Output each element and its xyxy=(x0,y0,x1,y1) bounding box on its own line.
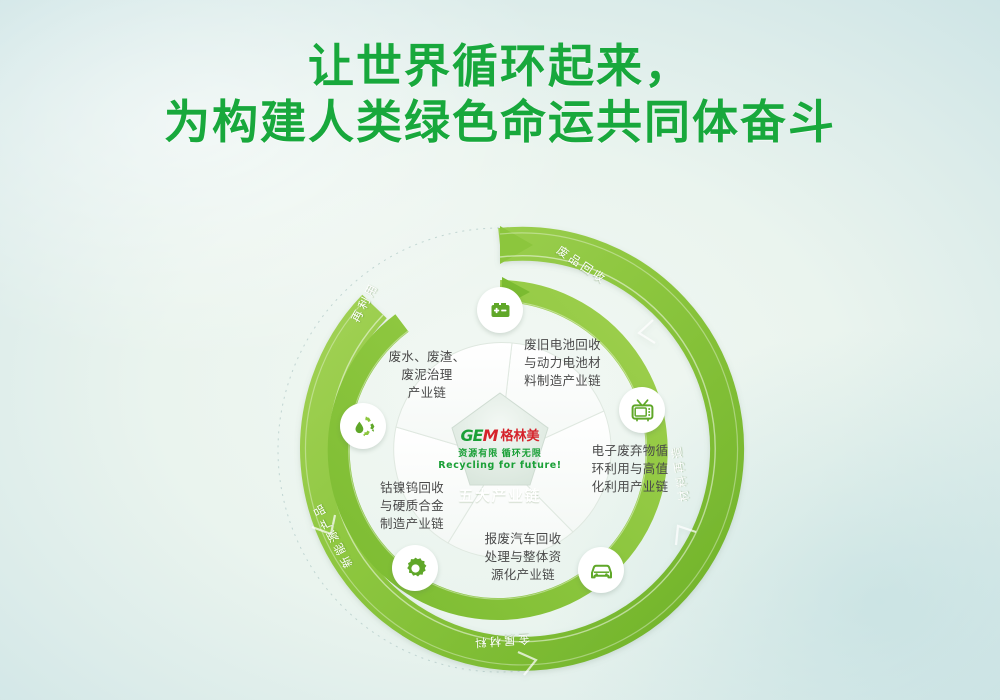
center-caption: 五大产业链 xyxy=(430,485,570,506)
chain-label-e-waste: 电子废弃物循 环利用与高值 化利用产业链 xyxy=(575,443,685,496)
chain-label-battery: 废旧电池回收 与动力电池材 料制造产业链 xyxy=(505,337,620,390)
brand-lockup: GEM 格林美 xyxy=(430,427,570,444)
car-icon-bubble[interactable] xyxy=(578,547,624,593)
recycling-cycle-diagram: 废品回收 再利用 材料再造 金属材料 新能源产品 废旧电池回收 与动力电池材 料… xyxy=(290,215,710,685)
battery-icon xyxy=(487,297,513,323)
page-title-line-2: 为构建人类绿色命运共同体奋斗 xyxy=(0,94,1000,150)
recycle-water-icon xyxy=(350,413,377,440)
page-title: 让世界循环起来， 为构建人类绿色命运共同体奋斗 xyxy=(0,38,1000,150)
television-icon-bubble[interactable] xyxy=(619,387,665,433)
car-icon xyxy=(588,557,615,584)
television-icon xyxy=(629,397,656,424)
brand-slogan-cn: 资源有限 循环无限 xyxy=(430,446,570,459)
recycle-water-icon-bubble[interactable] xyxy=(340,403,386,449)
page-title-line-1: 让世界循环起来， xyxy=(0,38,1000,94)
brand-chinese: 格林美 xyxy=(500,429,539,442)
brand-slogan-en: Recycling for future! xyxy=(430,460,570,471)
gear-icon xyxy=(402,555,429,582)
center-logo-block: GEM 格林美 资源有限 循环无限 Recycling for future! … xyxy=(430,427,570,506)
chain-label-scrap-car: 报废汽车回收 处理与整体资 源化产业链 xyxy=(465,531,581,584)
battery-icon-bubble[interactable] xyxy=(477,287,523,333)
chain-label-wastewater: 废水、废渣、 废泥治理 产业链 xyxy=(369,349,485,402)
gear-icon-bubble[interactable] xyxy=(392,545,438,591)
brand-latin: GEM xyxy=(461,428,498,444)
